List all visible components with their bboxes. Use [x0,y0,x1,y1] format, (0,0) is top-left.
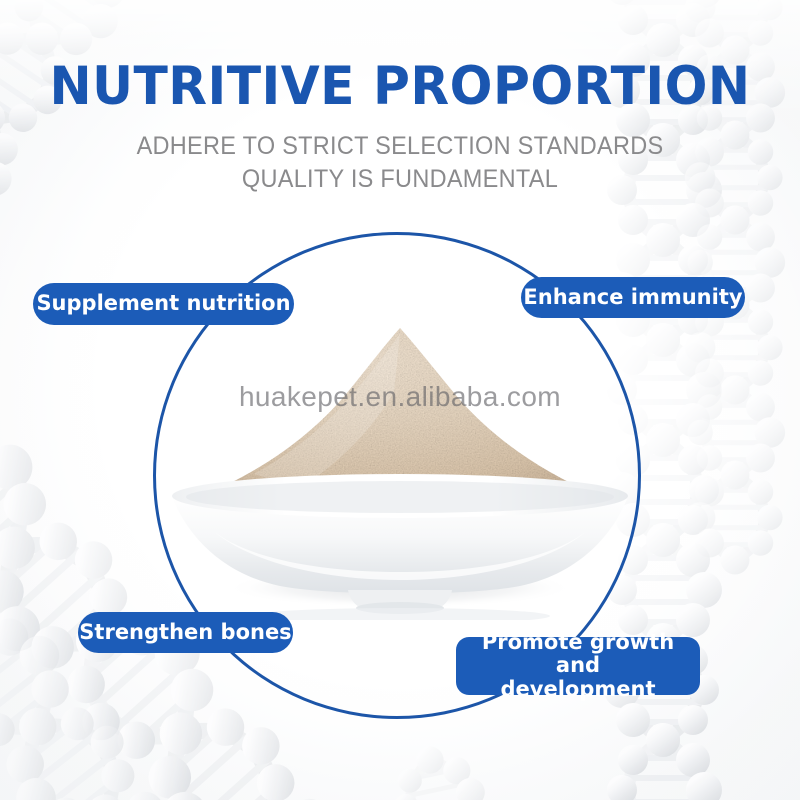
product-image [150,300,650,620]
badge-enhance-immunity[interactable]: Enhance immunity [521,277,745,318]
product-banner: NUTRITIVE PROPORTION ADHERE TO STRICT SE… [0,0,800,800]
badge-strengthen-bones[interactable]: Strengthen bones [78,612,293,653]
page-title: NUTRITIVE PROPORTION [20,60,780,114]
bowl-of-powder-illustration [150,300,650,620]
subtitle-line-2: QUALITY IS FUNDAMENTAL [24,163,776,196]
badge-promote-growth-and-development[interactable]: Promote growth and development [456,637,700,695]
header: NUTRITIVE PROPORTION ADHERE TO STRICT SE… [0,60,800,197]
badge-supplement-nutrition[interactable]: Supplement nutrition [33,283,294,325]
subtitle: ADHERE TO STRICT SELECTION STANDARDS QUA… [24,130,776,197]
subtitle-line-1: ADHERE TO STRICT SELECTION STANDARDS [24,130,776,163]
